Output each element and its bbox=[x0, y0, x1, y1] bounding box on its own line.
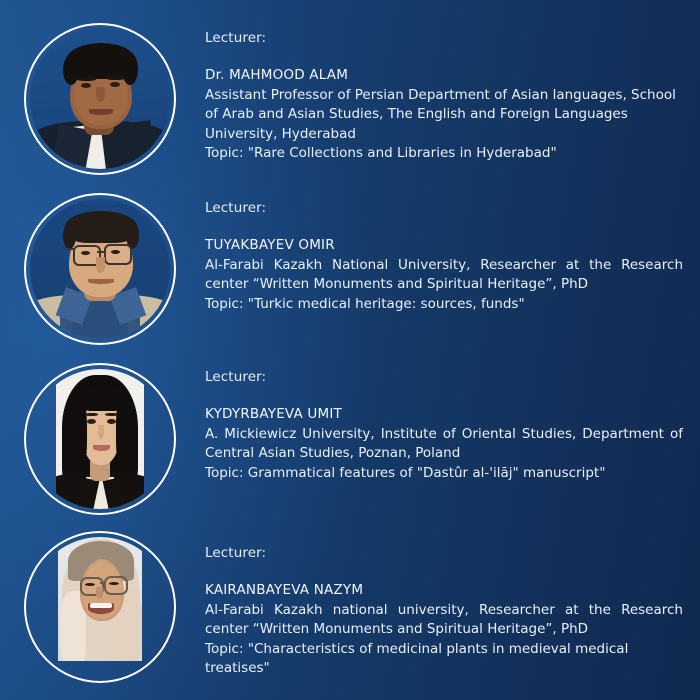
avatar-kairanbayeva-nazym bbox=[24, 531, 176, 683]
lecturer-affiliation: A. Mickiewicz University, Institute of O… bbox=[205, 425, 683, 464]
lecturer-name: KAIRANBAYEVA NAZYM bbox=[205, 581, 683, 601]
avatar-photo-clip bbox=[30, 29, 170, 169]
avatar-kydyrbayeva-umit bbox=[24, 363, 176, 515]
lecturer-label: Lecturer: bbox=[205, 200, 683, 217]
lecturer-text-column: Lecturer: Dr. MAHMOOD ALAM Assistant Pro… bbox=[205, 30, 683, 164]
lecturer-entry: Lecturer: Dr. MAHMOOD ALAM Assistant Pro… bbox=[0, 0, 700, 170]
lecturer-label: Lecturer: bbox=[205, 545, 683, 562]
lecturer-entry: Lecturer: KAIRANBAYEVA NAZYM Al-Farabi K… bbox=[0, 508, 700, 678]
lecturer-text-column: Lecturer: KAIRANBAYEVA NAZYM Al-Farabi K… bbox=[205, 545, 683, 679]
lecturer-topic: Topic: "Characteristics of medicinal pla… bbox=[205, 640, 683, 679]
avatar-photo-clip bbox=[30, 369, 170, 509]
lecturer-name: KYDYRBAYEVA UMIT bbox=[205, 405, 683, 425]
lecturer-name: Dr. MAHMOOD ALAM bbox=[205, 66, 683, 86]
lecturer-affiliation: Al-Farabi Kazakh national university, Re… bbox=[205, 601, 683, 640]
lecturer-topic: Topic: "Turkic medical heritage: sources… bbox=[205, 295, 683, 315]
lecturer-affiliation: Al-Farabi Kazakh National University, Re… bbox=[205, 256, 683, 295]
lecturer-entry: Lecturer: TUYAKBAYEV OMIR Al-Farabi Kaza… bbox=[0, 170, 700, 340]
avatar-mahmood-alam bbox=[24, 23, 176, 175]
lecturer-name: TUYAKBAYEV OMIR bbox=[205, 236, 683, 256]
lecturer-topic: Topic: Grammatical features of "Dastûr a… bbox=[205, 464, 683, 484]
avatar-photo-clip bbox=[30, 199, 170, 339]
lecturer-affiliation: Assistant Professor of Persian Departmen… bbox=[205, 86, 683, 145]
lecturer-text-column: Lecturer: TUYAKBAYEV OMIR Al-Farabi Kaza… bbox=[205, 200, 683, 314]
lecturer-entry: Lecturer: KYDYRBAYEVA UMIT A. Mickiewicz… bbox=[0, 340, 700, 510]
lecturer-poster: Lecturer: Dr. MAHMOOD ALAM Assistant Pro… bbox=[0, 0, 700, 700]
lecturer-label: Lecturer: bbox=[205, 369, 683, 386]
lecturer-label: Lecturer: bbox=[205, 30, 683, 47]
lecturer-topic: Topic: "Rare Collections and Libraries i… bbox=[205, 144, 683, 164]
portrait-photo bbox=[30, 369, 170, 509]
portrait-photo bbox=[30, 537, 170, 677]
avatar-tuyakbayev-omir bbox=[24, 193, 176, 345]
lecturer-text-column: Lecturer: KYDYRBAYEVA UMIT A. Mickiewicz… bbox=[205, 369, 683, 483]
avatar-photo-clip bbox=[30, 537, 170, 677]
portrait-photo bbox=[30, 29, 170, 169]
portrait-photo bbox=[30, 199, 170, 339]
